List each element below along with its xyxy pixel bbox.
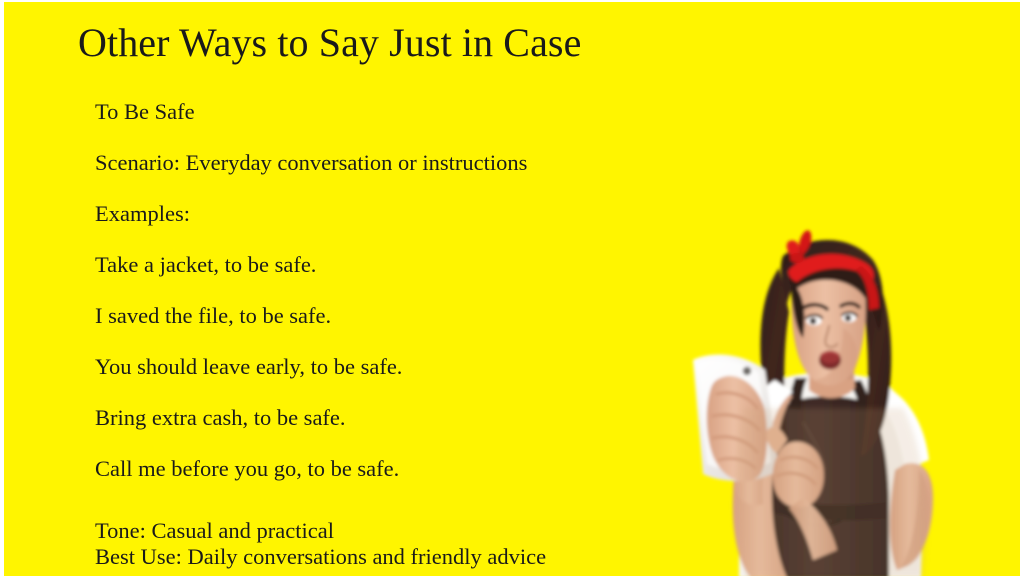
body-tone: Tone: Casual and practical xyxy=(95,518,715,544)
example-item: Call me before you go, to be safe. xyxy=(95,443,715,494)
slide-root: Other Ways to Say Just in Case To Be Saf… xyxy=(0,0,1024,576)
page-title: Other Ways to Say Just in Case xyxy=(78,20,581,66)
body-examples-label: Examples: xyxy=(95,188,715,239)
example-item: Bring extra cash, to be safe. xyxy=(95,392,715,443)
slide-body: To Be Safe Scenario: Everyday conversati… xyxy=(95,86,715,570)
body-best-use: Best Use: Daily conversations and friend… xyxy=(95,544,715,570)
surprised-woman-with-tablet-image xyxy=(683,208,941,576)
body-scenario: Scenario: Everyday conversation or instr… xyxy=(95,137,715,188)
example-item: Take a jacket, to be safe. xyxy=(95,239,715,290)
body-heading: To Be Safe xyxy=(95,86,715,137)
example-item: I saved the file, to be safe. xyxy=(95,290,715,341)
slide-canvas: Other Ways to Say Just in Case To Be Saf… xyxy=(4,2,1020,576)
example-item: You should leave early, to be safe. xyxy=(95,341,715,392)
